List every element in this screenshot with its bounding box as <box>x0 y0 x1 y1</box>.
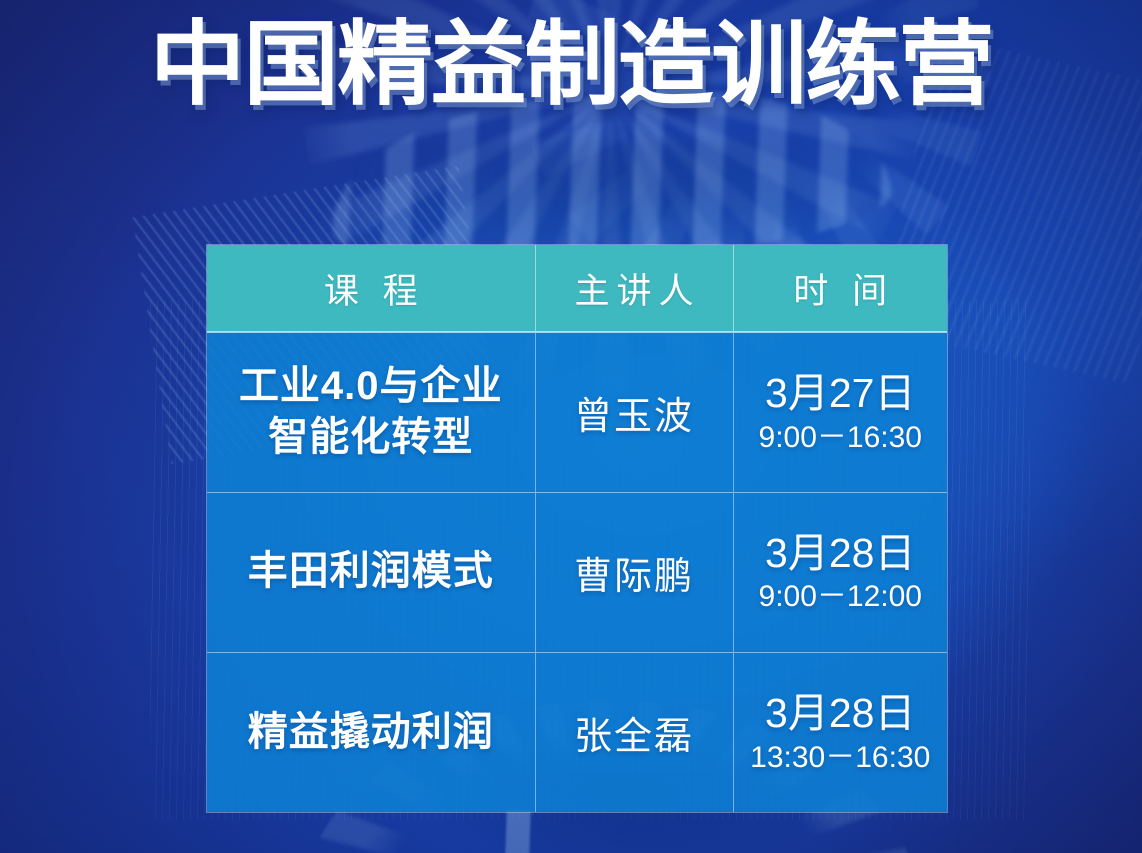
bottom-metal-chip <box>505 810 531 853</box>
schedule-table-header: 课 程 主讲人 时 间 <box>207 245 947 332</box>
column-header-course: 课 程 <box>207 245 535 332</box>
cell-time: 3月28日 13:30－16:30 <box>733 652 947 812</box>
schedule-table-body: 工业4.0与企业 智能化转型 曾玉波 3月27日 9:00－16:30 丰田利润… <box>207 332 947 812</box>
course-title-line1: 精益撬动利润 <box>248 710 494 754</box>
gear-band-shadow <box>360 140 880 260</box>
session-date: 3月28日 <box>740 689 942 737</box>
session-date: 3月27日 <box>740 369 942 417</box>
table-header-row: 课 程 主讲人 时 间 <box>207 245 947 332</box>
session-hours: 9:00－12:00 <box>740 579 942 614</box>
poster-canvas: 中国精益制造训练营 课 程 主讲人 时 间 工业4.0与企业 智能化转型 曾玉波 <box>0 0 1142 853</box>
table-row: 工业4.0与企业 智能化转型 曾玉波 3月27日 9:00－16:30 <box>207 332 947 492</box>
page-title: 中国精益制造训练营 <box>150 16 992 114</box>
title-block: 中国精益制造训练营 <box>0 16 1142 114</box>
cell-speaker: 曾玉波 <box>535 332 733 492</box>
column-header-speaker: 主讲人 <box>535 245 733 332</box>
cell-course: 精益撬动利润 <box>207 652 535 812</box>
cell-time: 3月27日 9:00－16:30 <box>733 332 947 492</box>
course-title-line1: 工业4.0与企业 <box>239 364 503 408</box>
course-title-line2: 智能化转型 <box>268 415 473 459</box>
cell-speaker: 张全磊 <box>535 652 733 812</box>
course-title-line1: 丰田利润模式 <box>248 549 494 593</box>
session-date: 3月28日 <box>740 529 942 577</box>
schedule-table: 课 程 主讲人 时 间 工业4.0与企业 智能化转型 曾玉波 3月27日 9:0… <box>207 245 947 812</box>
table-row: 丰田利润模式 曹际鹏 3月28日 9:00－12:00 <box>207 492 947 652</box>
cell-course: 丰田利润模式 <box>207 492 535 652</box>
cell-speaker: 曹际鹏 <box>535 492 733 652</box>
session-hours: 13:30－16:30 <box>740 740 942 775</box>
column-header-time: 时 间 <box>733 245 947 332</box>
cell-course: 工业4.0与企业 智能化转型 <box>207 332 535 492</box>
cell-time: 3月28日 9:00－12:00 <box>733 492 947 652</box>
table-row: 精益撬动利润 张全磊 3月28日 13:30－16:30 <box>207 652 947 812</box>
session-hours: 9:00－16:30 <box>740 420 942 455</box>
